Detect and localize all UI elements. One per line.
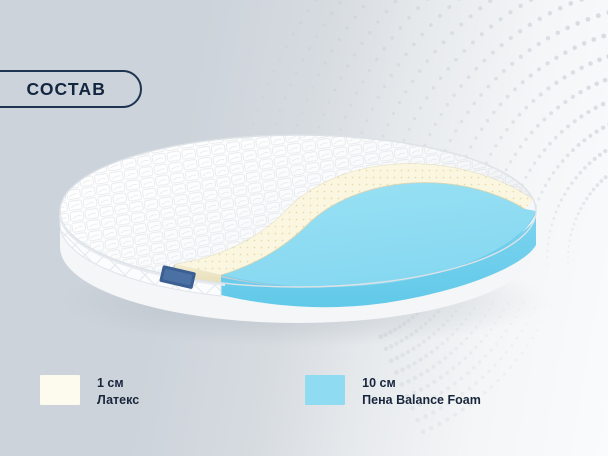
legend: 1 см Латекс 10 см Пена Balance Foam [40, 375, 481, 410]
legend-thickness-balance-foam: 10 см [362, 375, 481, 392]
legend-item-latex: 1 см Латекс [40, 375, 139, 410]
legend-item-balance-foam: 10 см Пена Balance Foam [305, 375, 481, 410]
page-title: СОСТАВ [27, 79, 106, 100]
legend-label-latex: 1 см Латекс [97, 375, 139, 410]
legend-swatch-latex [40, 375, 80, 405]
legend-swatch-balance-foam [305, 375, 345, 405]
legend-material-latex: Латекс [97, 392, 139, 409]
composition-infographic: СОСТАВ [0, 0, 608, 456]
legend-material-balance-foam: Пена Balance Foam [362, 392, 481, 409]
mattress-illustration [55, 125, 555, 350]
legend-thickness-latex: 1 см [97, 375, 139, 392]
legend-label-balance-foam: 10 см Пена Balance Foam [362, 375, 481, 410]
section-title-badge: СОСТАВ [0, 70, 142, 108]
